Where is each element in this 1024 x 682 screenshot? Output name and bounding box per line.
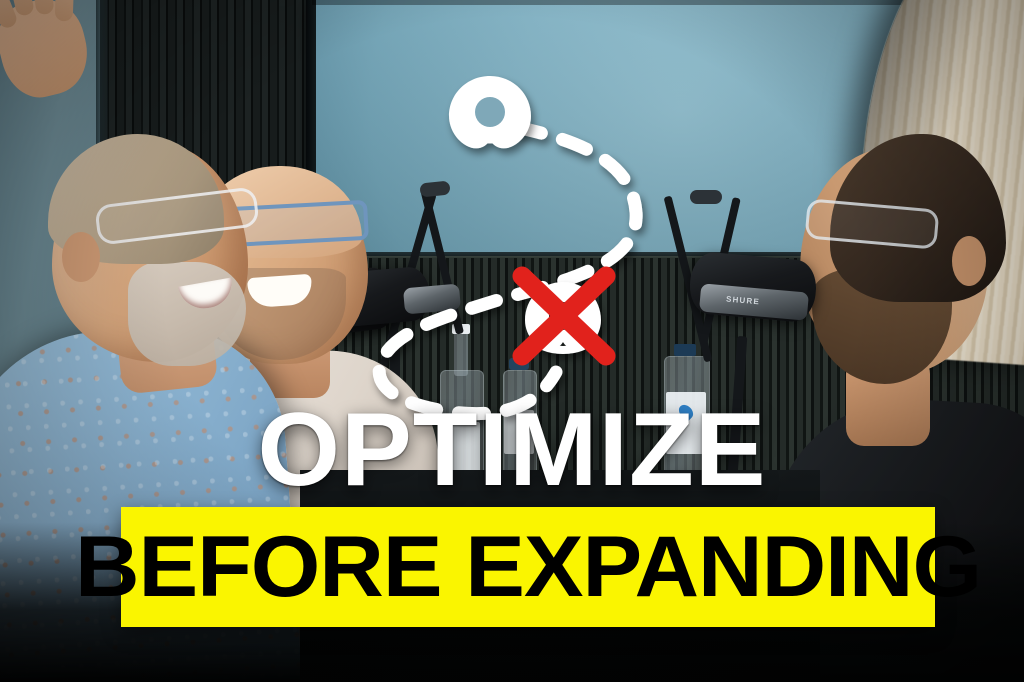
headline-primary: OPTIMIZE xyxy=(0,398,1024,502)
headline-secondary: BEFORE EXPANDING xyxy=(105,507,952,627)
dashed-route-path xyxy=(379,127,636,414)
headline-banner: BEFORE EXPANDING xyxy=(121,507,935,627)
thumbnail-canvas: SHURE SHURE xyxy=(0,0,1024,682)
map-pin-icon xyxy=(449,76,531,148)
